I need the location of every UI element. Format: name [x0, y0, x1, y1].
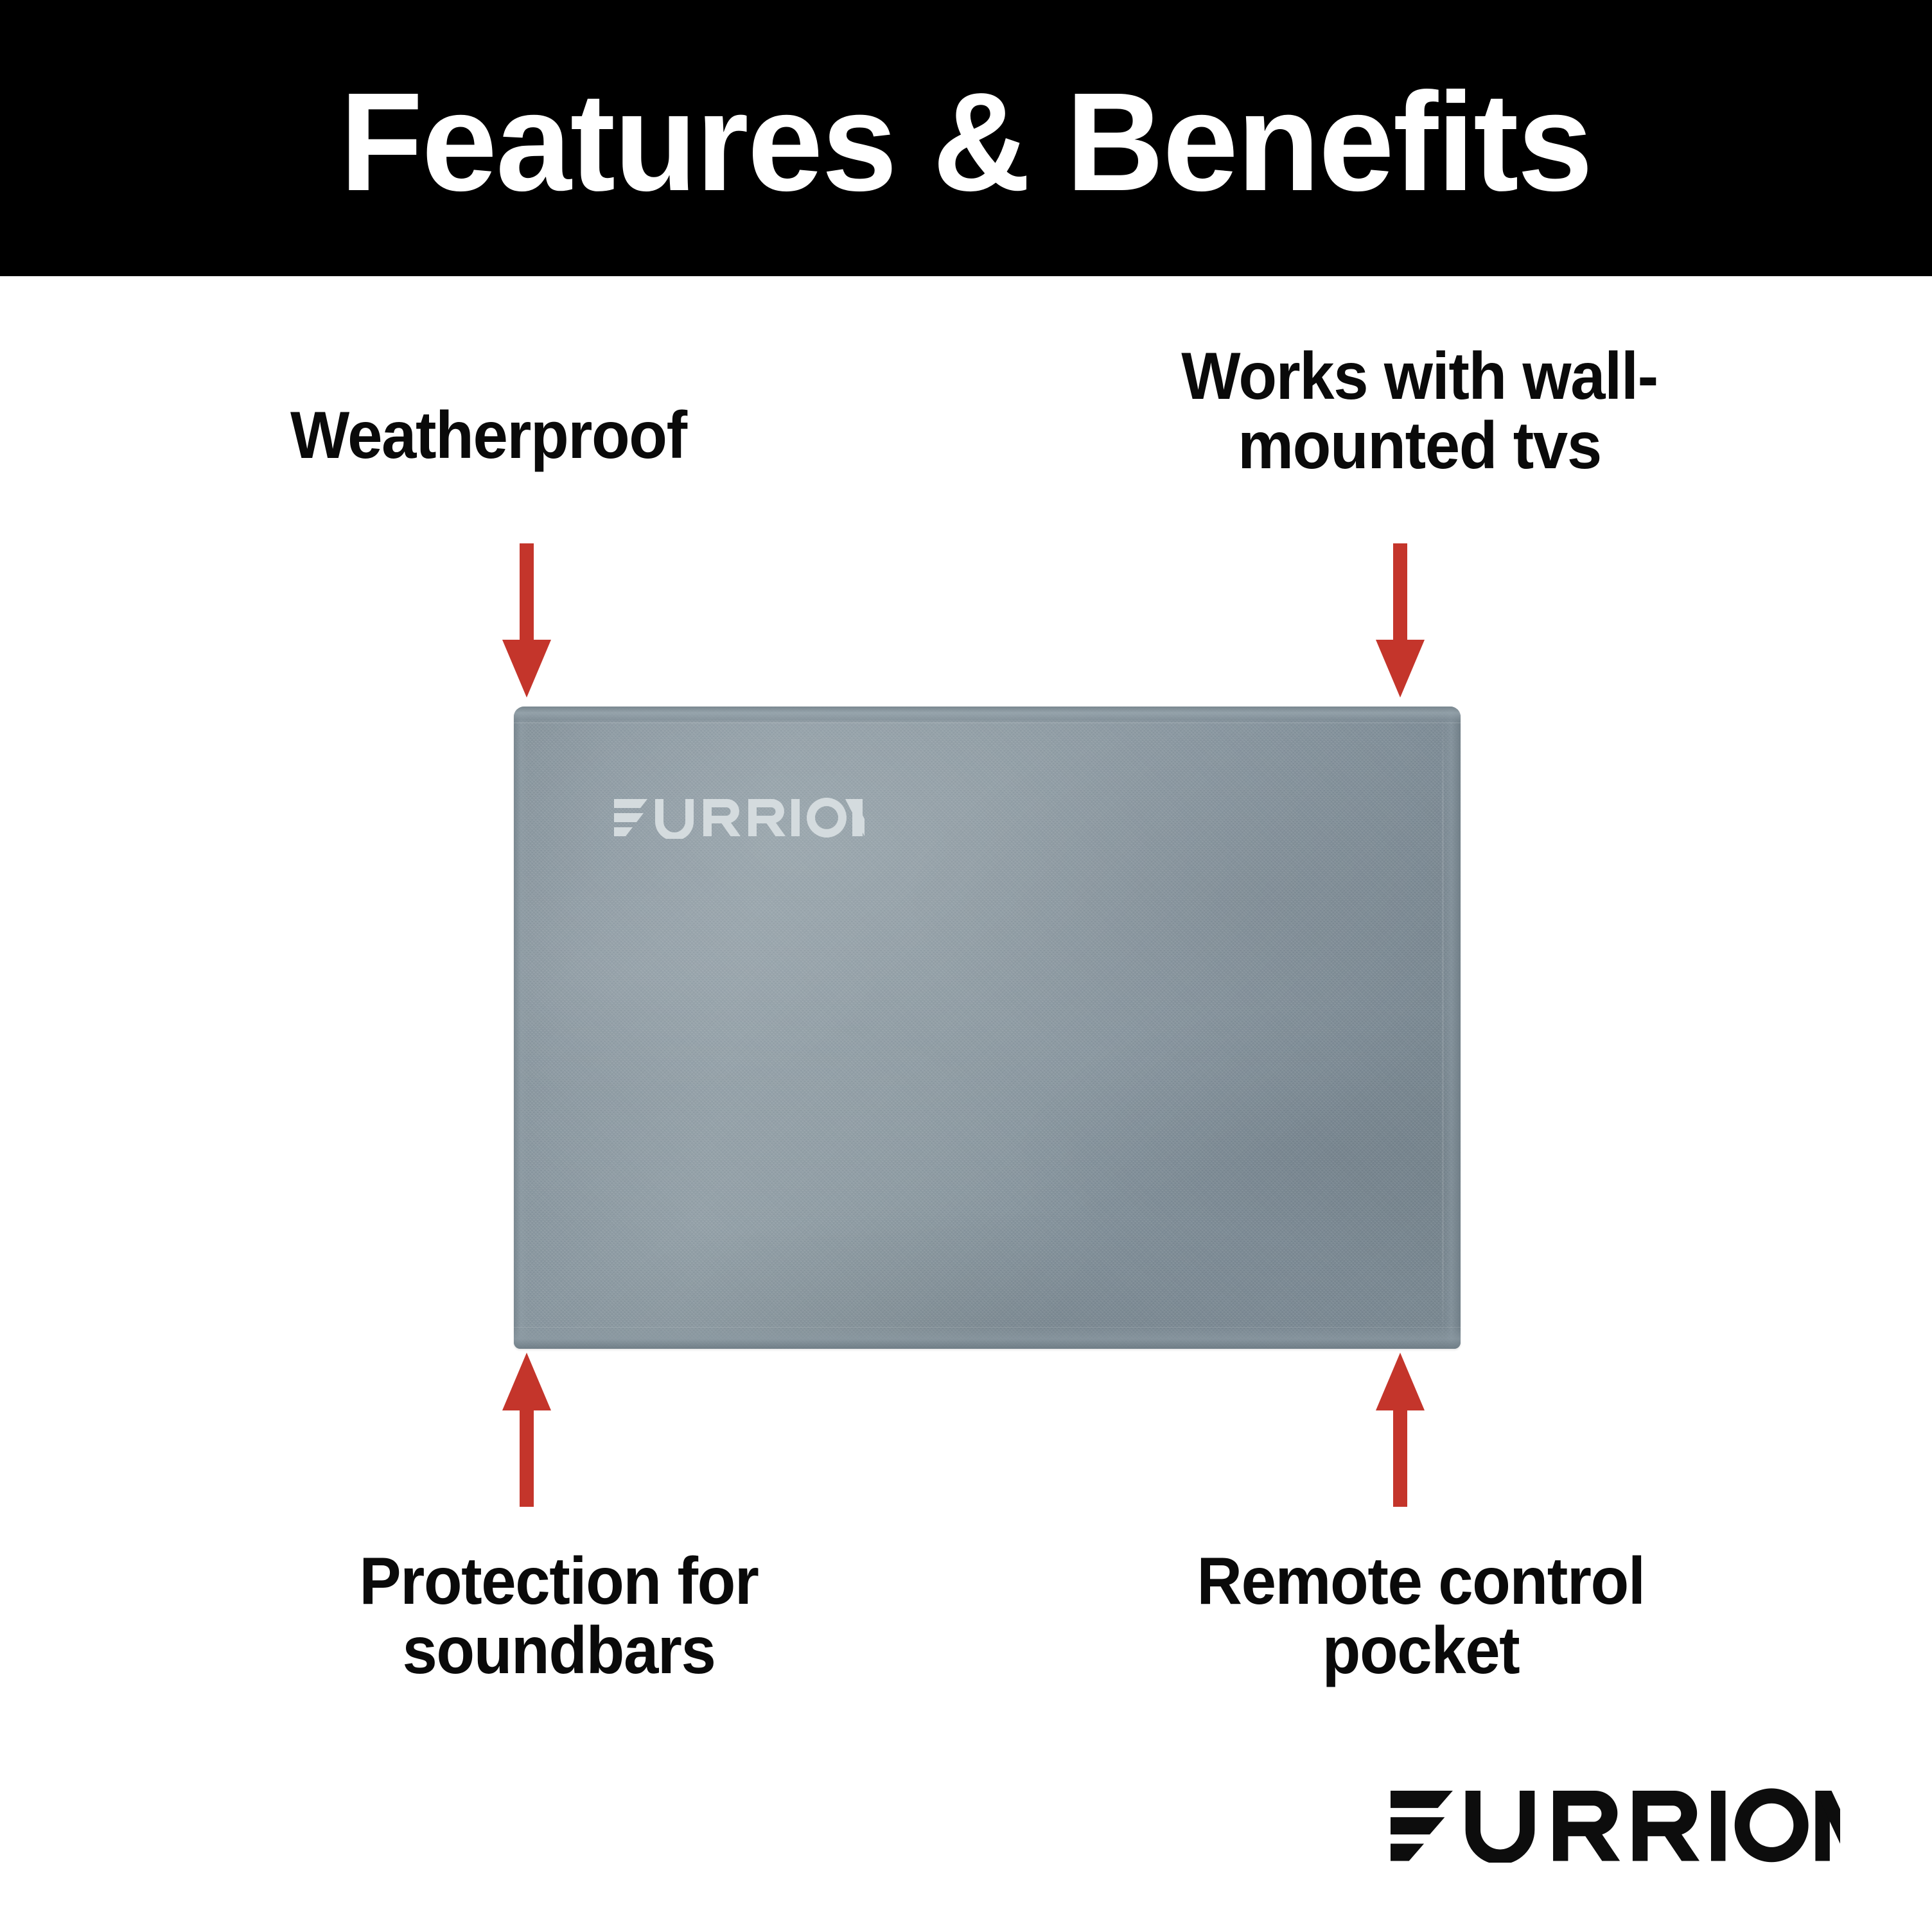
infographic-canvas: Features & Benefits Weatherproof Works w…: [0, 0, 1932, 1932]
cover-hem-bottom: [514, 1327, 1461, 1349]
header-bar: Features & Benefits: [0, 0, 1932, 276]
cover-seam-left: [514, 707, 528, 1349]
page-title: Features & Benefits: [340, 73, 1592, 213]
product-image-tv-cover: FURRION: [514, 707, 1461, 1349]
cover-seam-right: [1444, 707, 1461, 1349]
arrow-down-weatherproof: [502, 543, 551, 698]
arrow-up-soundbars: [502, 1353, 551, 1507]
callout-label-soundbars: Protection for soundbars: [287, 1547, 830, 1685]
callout-label-weatherproof: Weatherproof: [290, 401, 687, 470]
arrow-up-remote-pocket: [1376, 1353, 1425, 1507]
tv-cover-body: FURRION: [514, 707, 1461, 1349]
callout-label-remote-pocket: Remote control pocket: [1137, 1547, 1705, 1685]
callout-label-wall-mounted: Works with wall- mounted tvs: [1100, 342, 1739, 480]
cover-hem-top: [514, 707, 1461, 723]
arrow-down-wall-mounted: [1376, 543, 1425, 698]
furrion-logo-on-product: FURRION: [614, 796, 865, 842]
furrion-brand-logo: FURRION: [1391, 1786, 1840, 1866]
cover-fold-line: [1442, 707, 1444, 1349]
